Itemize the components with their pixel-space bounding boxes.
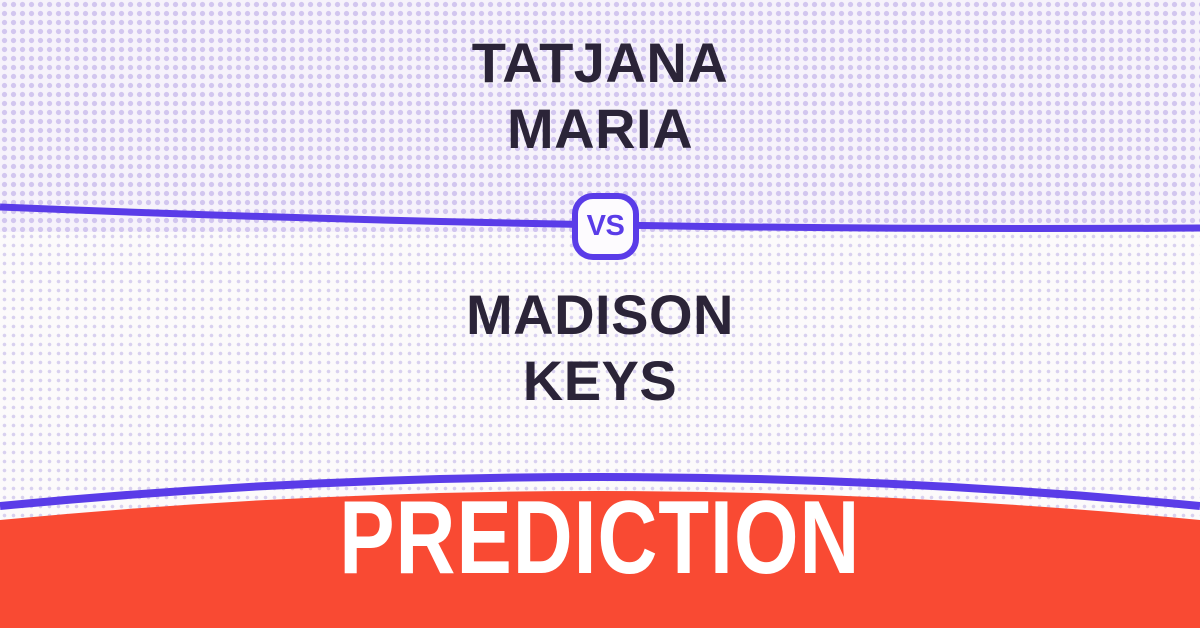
vs-badge: VS bbox=[572, 193, 639, 260]
prediction-headline-wrap: PREDICTION bbox=[0, 492, 1200, 584]
player-name-bottom: MADISON KEYS bbox=[0, 282, 1200, 414]
player-name-top: TATJANA MARIA bbox=[0, 30, 1200, 162]
prediction-graphic: TATJANA MARIA VS MADISON KEYS PREDICTION bbox=[0, 0, 1200, 628]
prediction-headline: PREDICTION bbox=[339, 492, 860, 584]
vs-label: VS bbox=[587, 212, 625, 241]
